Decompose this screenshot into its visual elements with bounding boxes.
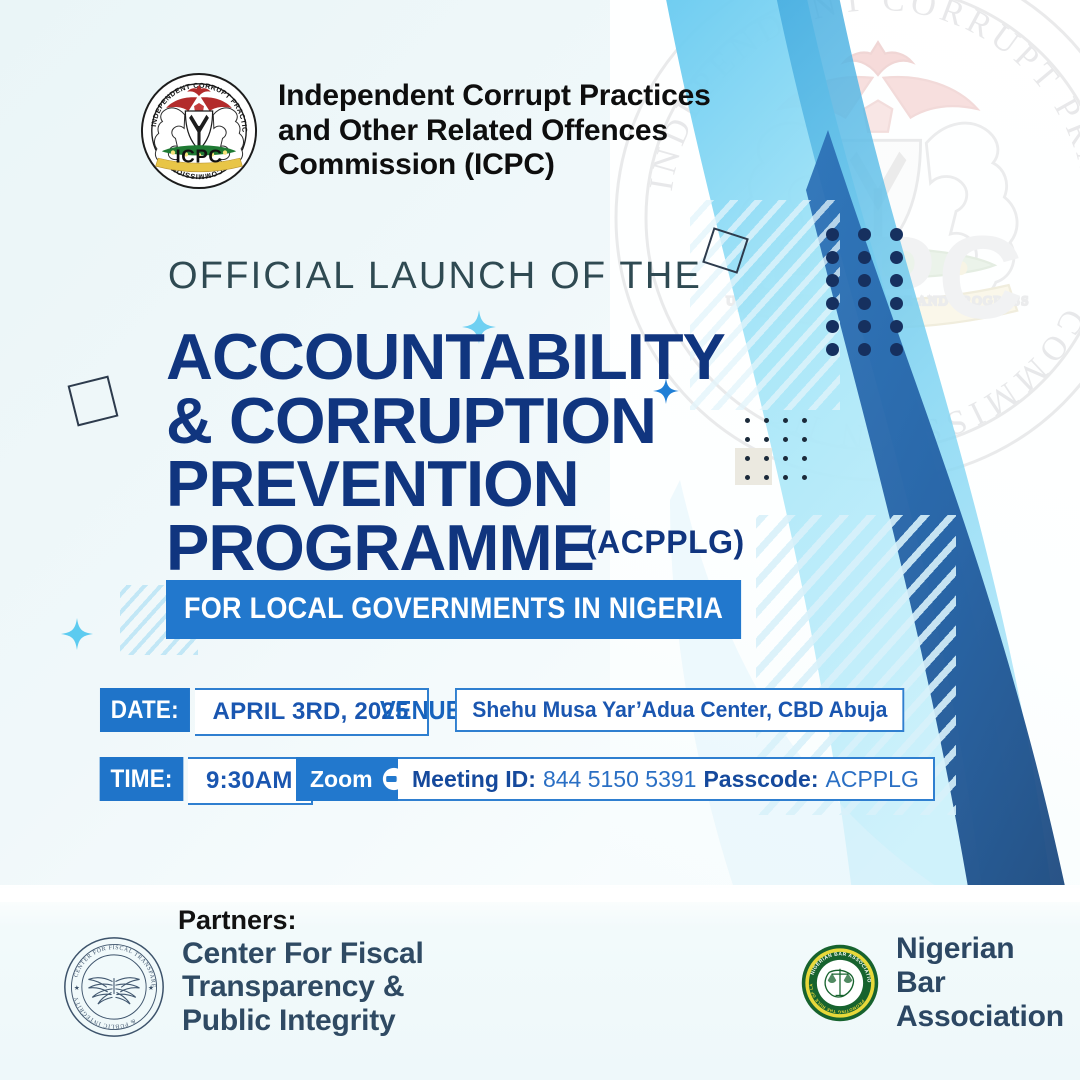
zoom-label: Zoom [310,766,373,793]
kicker-text: OFFICIAL LAUNCH OF THE [168,255,702,298]
meeting-id-label: Meeting ID: [412,766,536,793]
partner-center-for-fiscal-transparency: CENTER FOR FISCAL TRANSPARENCY & PUBLIC … [62,935,424,1039]
venue-value: Shehu Musa Yar’Adua Center, CBD Abuja [455,688,905,732]
subtitle-banner: FOR LOCAL GOVERNMENTS IN NIGERIA [166,580,741,639]
svg-text:★: ★ [74,985,80,992]
svg-text:ICPC: ICPC [176,145,223,166]
title-line-1: ACCOUNTABILITY [166,325,806,389]
partners-band-divider [0,888,1080,902]
nba-seal-icon: NIGERIAN BAR ASSOCIATION PROMOTING THE R… [800,943,880,1023]
organisation-name: Independent Corrupt Practices and Other … [278,79,711,183]
event-flyer: INDEPENDENT CORRUPT PRACTICES & OTHER RE… [0,0,1080,1080]
flyer-header: INDEPENDENT CORRUPT PRACTICES & OTHER RE… [140,72,711,190]
passcode-value: ACPPLG [826,766,919,793]
partner-right-name: Nigerian Bar Association [896,932,1064,1034]
partner-nigerian-bar-association: NIGERIAN BAR ASSOCIATION PROMOTING THE R… [800,932,1064,1034]
svg-text:★: ★ [148,985,154,992]
time-value: 9:30AM [188,757,313,805]
time-row: TIME: 9:30AM [95,757,313,805]
date-row: DATE: APRIL 3RD, 2025 [95,688,429,736]
cft-wings-seal-icon: CENTER FOR FISCAL TRANSPARENCY & PUBLIC … [62,935,166,1039]
passcode-label: Passcode: [703,766,818,793]
icpc-seal-icon: INDEPENDENT CORRUPT PRACTICES & OTHER RE… [140,72,258,190]
meeting-id-value: 844 5150 5391 [543,766,697,793]
time-label: TIME: [100,757,184,801]
programme-abbreviation: (ACPPLG) [586,524,745,561]
zoom-meeting-info: Meeting ID: 844 5150 5391 Passcode: ACPP… [398,757,935,801]
date-label: DATE: [100,688,190,732]
partner-left-name: Center For Fiscal Transparency & Public … [182,937,424,1038]
title-line-2: & CORRUPTION [166,389,806,453]
partners-heading: Partners: [178,905,297,936]
title-line-3: PREVENTION [166,452,806,516]
